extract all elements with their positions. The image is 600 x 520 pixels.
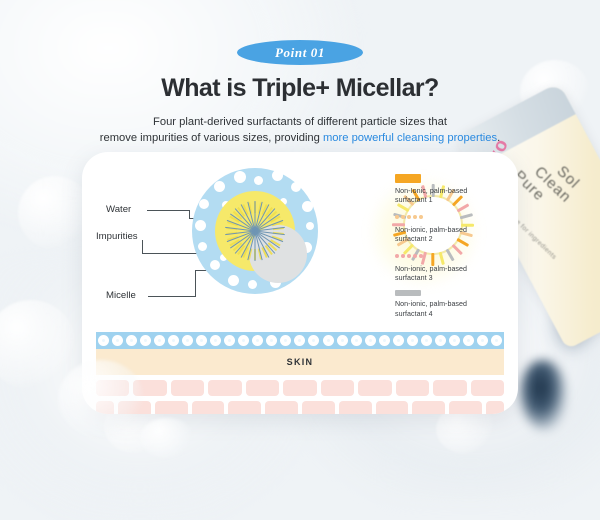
legend-label-1-line1: Non-Ionic, palm-based (395, 187, 467, 195)
legend-swatch-solid-bar-icon (395, 174, 421, 183)
label-impurities: Impurities (96, 231, 138, 242)
legend-swatch-dot-row-icon (395, 252, 511, 261)
skin-cell (246, 380, 279, 396)
micelle-dot (224, 335, 235, 346)
micelle-dot (252, 335, 263, 346)
micelle-particle (192, 168, 318, 294)
skin-cell (396, 380, 429, 396)
skin-cell (486, 401, 504, 414)
foreground-bubble (58, 360, 144, 438)
legend-item-3: Non-ionic, palm-based surfactant 3 (395, 252, 511, 284)
micelle-dot (365, 335, 376, 346)
legend-label-4-line1: Non-ionic, palm-based (395, 300, 467, 308)
water-bubble (234, 171, 246, 183)
micelle-dot (210, 335, 221, 346)
micelle-dot (140, 335, 151, 346)
legend: Non-Ionic, palm-based surfactant 1 Non-i… (395, 174, 511, 326)
description-line-1: Four plant-derived surfactants of differ… (0, 114, 600, 130)
micelle-dot (266, 335, 277, 346)
micelle-dot (280, 335, 291, 346)
legend-item-2: Non-ionic, palm-based surfactant 2 (395, 213, 511, 245)
micelle-dot (421, 335, 432, 346)
skin-cell-row (96, 380, 504, 396)
skin-cell (208, 380, 241, 396)
water-bubble (248, 280, 257, 289)
point-badge: Point 01 (237, 40, 363, 65)
label-micelle: Micelle (106, 290, 136, 301)
micelle-dot (238, 335, 249, 346)
water-bubble (210, 260, 220, 270)
description-highlight: more powerful cleansing properties (323, 132, 497, 144)
skin-cell (283, 380, 316, 396)
water-bubble (306, 222, 314, 230)
skin-cell (449, 401, 482, 414)
micelle-dot (182, 335, 193, 346)
leader-line-water (147, 210, 190, 211)
skin-cell (471, 380, 504, 396)
header: Point 01 What is Triple+ Micellar? Four … (0, 0, 600, 146)
micelle-dot (463, 335, 474, 346)
micelle-dot (449, 335, 460, 346)
legend-item-1: Non-Ionic, palm-based surfactant 1 (395, 174, 511, 206)
water-bubble (302, 201, 313, 212)
skin-cell (302, 401, 335, 414)
description-line-2: remove impurities of various sizes, prov… (0, 130, 600, 146)
background-bubble (18, 176, 92, 250)
skin-cell (228, 401, 261, 414)
skin-cell (192, 401, 225, 414)
skin-cell (155, 401, 188, 414)
water-bubble (195, 220, 206, 231)
water-bubble (198, 242, 207, 251)
skin-cell (358, 380, 391, 396)
legend-label-2-line1: Non-ionic, palm-based (395, 226, 467, 234)
skin-cell (339, 401, 372, 414)
legend-swatch-gray-bar-icon (395, 290, 421, 296)
skin-cell (376, 401, 409, 414)
legend-swatch-dot-row-icon (395, 213, 511, 222)
micelle-dot (477, 335, 488, 346)
description-line-2-plain: remove impurities of various sizes, prov… (100, 132, 323, 144)
micelle-dot (323, 335, 334, 346)
legend-item-4: Non-ionic, palm-based surfactant 4 (395, 290, 511, 319)
leader-line-micelle (148, 296, 196, 297)
skin-cell (412, 401, 445, 414)
leader-line-impurities (142, 240, 143, 254)
water-bubble (199, 199, 209, 209)
legend-label-3: Non-ionic, palm-based surfactant 3 (395, 265, 511, 284)
micelle-dot (407, 335, 418, 346)
skin-cross-section: SKIN (96, 332, 504, 414)
legend-label-2: Non-ionic, palm-based surfactant 2 (395, 226, 511, 245)
skin-cell (321, 380, 354, 396)
micelle-dot (196, 335, 207, 346)
legend-label-3-line2: surfactant 3 (395, 274, 433, 282)
legend-label-4: Non-ionic, palm-based surfactant 4 (395, 300, 511, 319)
micelle-dot (126, 335, 137, 346)
micelle-dot (308, 335, 319, 346)
micelle-dot (351, 335, 362, 346)
micelle-dot (435, 335, 446, 346)
label-water: Water (106, 204, 131, 215)
micelle-dot (168, 335, 179, 346)
content-card: Water Impurities Micelle (82, 152, 518, 414)
micelle-dot (379, 335, 390, 346)
skin-cell (265, 401, 298, 414)
leader-line-impurities (142, 253, 200, 254)
micelle-dot (154, 335, 165, 346)
skin-label: SKIN (96, 349, 504, 375)
description: Four plant-derived surfactants of differ… (0, 114, 600, 146)
skin-cell (433, 380, 466, 396)
skin-cell (171, 380, 204, 396)
water-bubble (291, 182, 301, 192)
water-bubble (214, 181, 225, 192)
page-title: What is Triple+ Micellar? (0, 74, 600, 103)
water-bubble (228, 275, 239, 286)
background-dark-blob (520, 360, 566, 430)
leader-line-micelle (195, 270, 196, 297)
legend-label-1-line2: surfactant 1 (395, 196, 433, 204)
legend-label-2-line2: surfactant 2 (395, 235, 433, 243)
micelle-dot (491, 335, 502, 346)
micelle-layer-band (96, 332, 504, 349)
legend-label-4-line2: surfactant 4 (395, 310, 433, 318)
micelle-dot (393, 335, 404, 346)
micelle-dot (294, 335, 305, 346)
description-period: . (497, 132, 500, 144)
micelle-dot (98, 335, 109, 346)
foreground-bubble (140, 418, 194, 458)
water-bubble (254, 176, 263, 185)
micelle-dot (112, 335, 123, 346)
micelle-dot (337, 335, 348, 346)
skin-cell-row (96, 401, 504, 414)
micelle-diagram: Water Impurities Micelle (82, 152, 518, 328)
water-bubble (272, 170, 283, 181)
legend-label-1: Non-Ionic, palm-based surfactant 1 (395, 187, 511, 206)
legend-label-3-line1: Non-ionic, palm-based (395, 265, 467, 273)
